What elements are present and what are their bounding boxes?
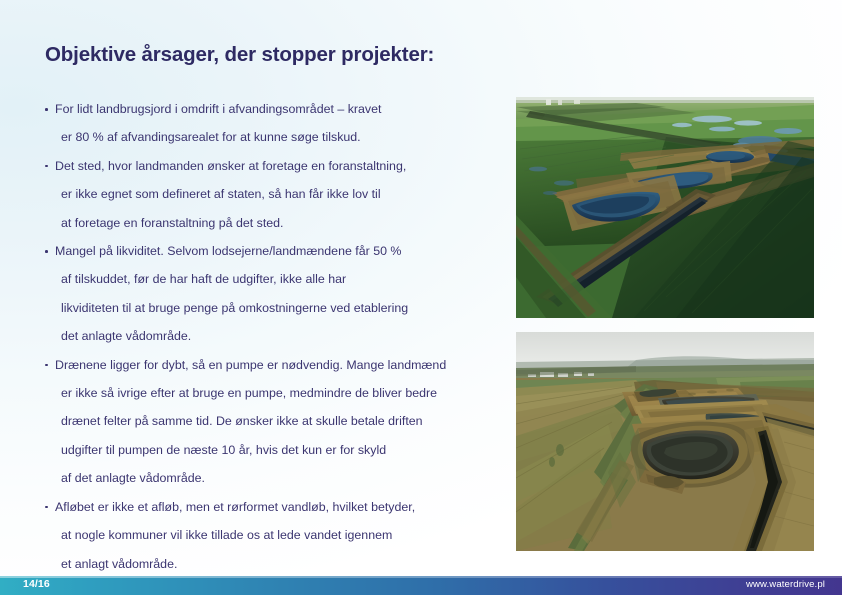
- bullet-line: af det anlagte vådområde.: [44, 464, 499, 492]
- page-title: Objektive årsager, der stopper projekter…: [45, 43, 434, 67]
- list-item: Mangel på likviditet. Selvom lodsejerne/…: [44, 237, 499, 351]
- bullet-line: er ikke egnet som defineret af staten, s…: [44, 180, 499, 208]
- bullet-line: at nogle kommuner vil ikke tillade os at…: [44, 521, 499, 549]
- bullet-line: Det sted, hvor landmanden ønsker at fore…: [44, 152, 499, 180]
- photo-bottom-graphic: [516, 332, 814, 551]
- aerial-photo-wetland-ponds-green-fields: [516, 97, 814, 318]
- photo-top-graphic: [516, 97, 814, 318]
- bullet-line: at foretage en foranstaltning på det ste…: [44, 209, 499, 237]
- list-item: Afløbet er ikke et afløb, men et rørform…: [44, 493, 499, 578]
- aerial-photo-wetland-reedbed-pond: [516, 332, 814, 551]
- bullet-line: likviditeten til at bruge penge på omkos…: [44, 294, 499, 322]
- bullet-line: er ikke så ivrige efter at bruge en pump…: [44, 379, 499, 407]
- bullet-line: For lidt landbrugsjord i omdrift i afvan…: [44, 95, 499, 123]
- page-number: 14/16: [23, 578, 50, 590]
- bullet-line: udgifter til pumpen de næste 10 år, hvis…: [44, 436, 499, 464]
- list-item: Drænene ligger for dybt, så en pumpe er …: [44, 351, 499, 493]
- list-item: For lidt landbrugsjord i omdrift i afvan…: [44, 95, 499, 152]
- footer-bar: 14/16 www.waterdrive.pl: [0, 576, 842, 595]
- bullet-line: det anlagte vådområde.: [44, 322, 499, 350]
- bullet-line: er 80 % af afvandingsarealet for at kunn…: [44, 123, 499, 151]
- bullet-line: af tilskuddet, før de har haft de udgift…: [44, 265, 499, 293]
- bullet-list: For lidt landbrugsjord i omdrift i afvan…: [44, 95, 499, 578]
- bullet-line: et anlagt vådområde.: [44, 550, 499, 578]
- list-item: Det sted, hvor landmanden ønsker at fore…: [44, 152, 499, 237]
- bullet-line: Afløbet er ikke et afløb, men et rørform…: [44, 493, 499, 521]
- bullet-line: Drænene ligger for dybt, så en pumpe er …: [44, 351, 499, 379]
- slide: Objektive årsager, der stopper projekter…: [0, 0, 842, 595]
- website-url[interactable]: www.waterdrive.pl: [746, 579, 825, 590]
- bullet-line: Mangel på likviditet. Selvom lodsejerne/…: [44, 237, 499, 265]
- bullet-line: drænet felter på samme tid. De ønsker ik…: [44, 407, 499, 435]
